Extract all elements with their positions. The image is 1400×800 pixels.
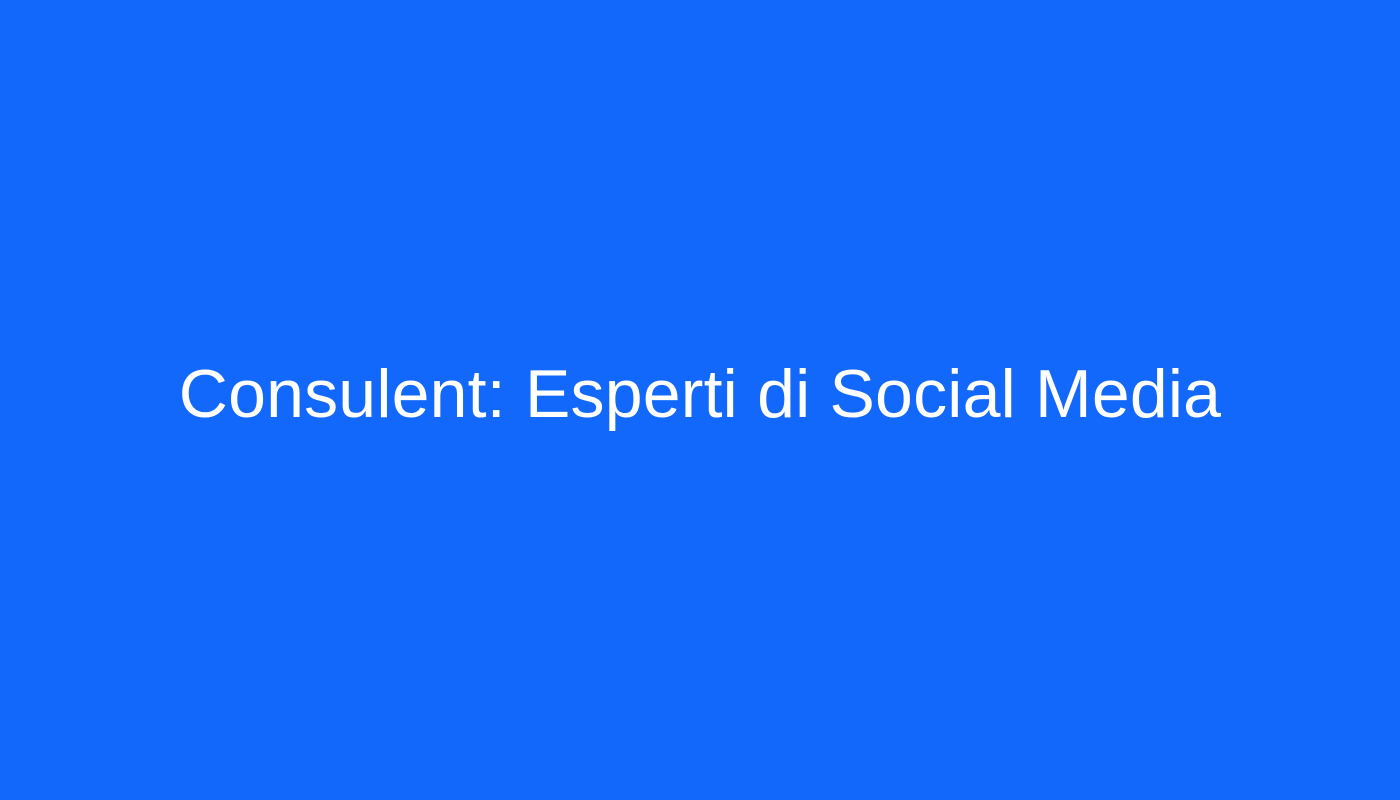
page-title: Consulent: Esperti di Social Media (139, 356, 1261, 432)
hero-banner-content: Consulent: Esperti di Social Media (0, 356, 1400, 432)
hero-banner: Consulent: Esperti di Social Media (0, 0, 1400, 800)
